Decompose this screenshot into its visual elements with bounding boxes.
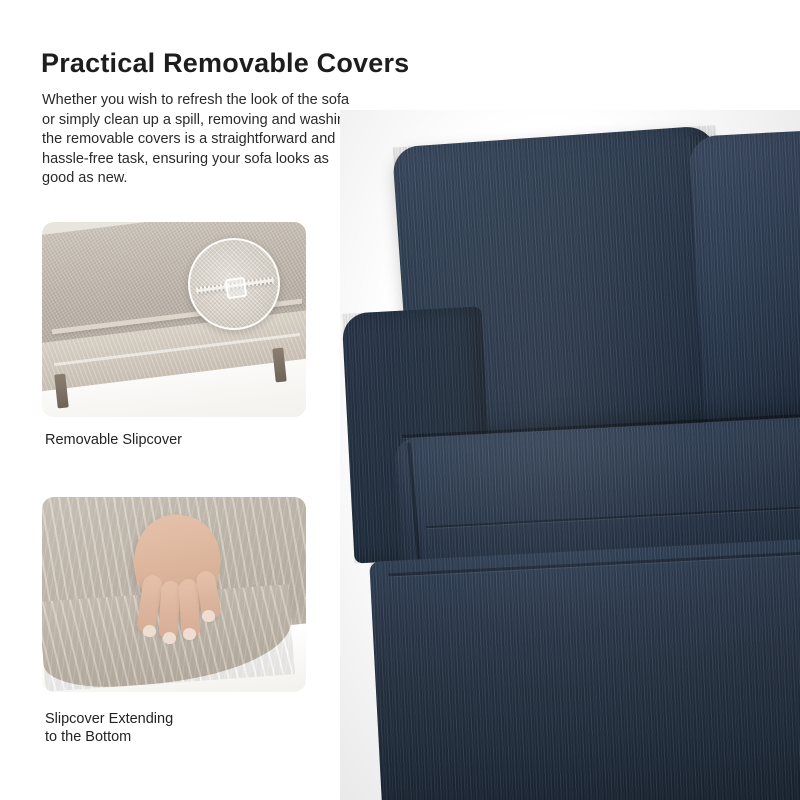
fingernail-shape bbox=[163, 632, 176, 644]
zipper-pull-icon bbox=[225, 277, 248, 300]
product-photo-navy-sofa bbox=[340, 110, 800, 800]
feature-caption-2-line-1: Slipcover Extending bbox=[45, 710, 295, 728]
feature-image-removable-slipcover bbox=[42, 222, 306, 417]
product-feature-graphic: Practical Removable Covers Whether you w… bbox=[0, 0, 800, 800]
feature-caption-2-line-2: to the Bottom bbox=[45, 728, 295, 746]
fingernail-shape bbox=[143, 625, 156, 637]
fingernail-shape bbox=[183, 628, 196, 640]
sofa-skirt bbox=[369, 538, 800, 800]
feature-image-slipcover-extending bbox=[42, 497, 306, 692]
back-cushion-right bbox=[689, 127, 800, 426]
description-paragraph: Whether you wish to refresh the look of … bbox=[42, 91, 360, 189]
feature-caption-2: Slipcover Extending to the Bottom bbox=[45, 710, 295, 746]
zoom-detail-circle bbox=[188, 238, 280, 330]
fabric-texture bbox=[369, 538, 800, 800]
fingernail-shape bbox=[202, 610, 215, 622]
fabric-texture bbox=[689, 127, 800, 426]
finger-shape bbox=[158, 581, 180, 640]
feature-caption-1: Removable Slipcover bbox=[45, 431, 295, 449]
page-title: Practical Removable Covers bbox=[41, 46, 461, 80]
hand-illustration bbox=[126, 515, 234, 647]
